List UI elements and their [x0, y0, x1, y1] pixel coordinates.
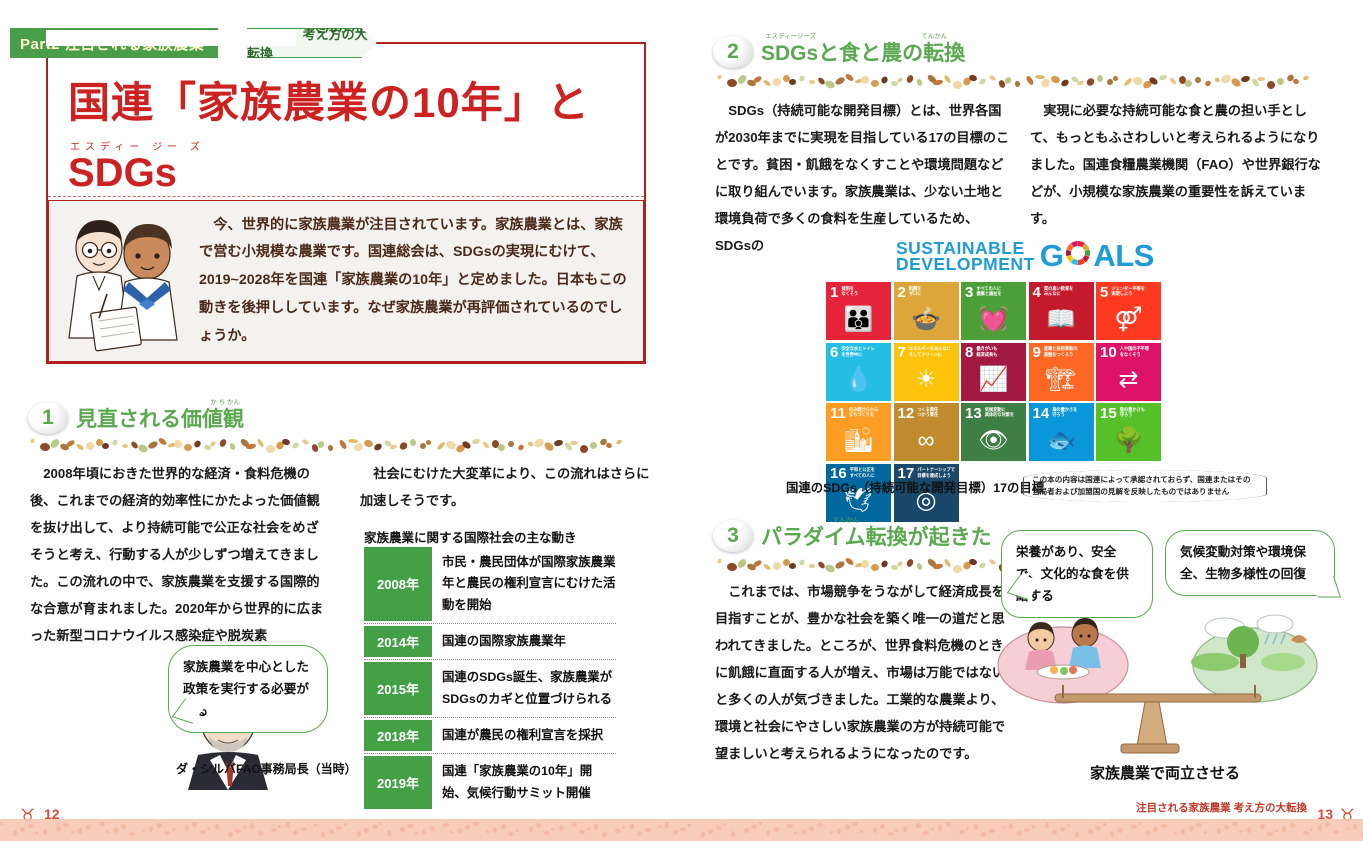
timeline-row: 2015年国連のSDGs誕生、家族農業がSDGsのカギと位置づけられる	[364, 660, 616, 718]
bean-divider-1	[30, 436, 630, 450]
bean-glyph	[988, 559, 996, 566]
bean-glyph	[789, 79, 796, 85]
footer-pattern-dot	[56, 826, 61, 831]
footer-pattern-dot	[20, 827, 25, 832]
bean-glyph	[1158, 74, 1167, 81]
footer-pattern-dot	[508, 832, 514, 836]
sdg-goal-tile: 13気候変動に 具体的な対策を👁	[961, 403, 1026, 461]
bean-glyph	[147, 440, 159, 450]
sdg-goal-number: 11	[830, 407, 846, 421]
bean-glyph	[717, 558, 723, 564]
footer-pattern-dot	[372, 825, 378, 829]
timeline-description: 国連のSDGs誕生、家族農業がSDGsのカギと位置づけられる	[432, 660, 616, 717]
bean-glyph	[533, 437, 546, 449]
footer-pattern-dot	[809, 826, 814, 831]
bean-glyph	[1214, 77, 1220, 83]
bean-glyph	[363, 439, 374, 449]
timeline-row: 2014年国連の国際家族農業年	[364, 624, 616, 660]
bean-glyph	[763, 79, 772, 87]
sdg-goal-icon: 💧	[826, 360, 891, 401]
footer-pattern-dot	[974, 824, 978, 830]
bean-glyph	[1276, 77, 1284, 85]
footer-pattern-dot	[787, 824, 793, 828]
section-3-heading: 3 てんかん パラダイム転換が起きた	[713, 520, 992, 552]
footer-pattern-dot	[536, 823, 541, 828]
sdg-goal-tile: 7エネルギーをみんなに そしてクリーンに☀	[894, 343, 959, 401]
sdg-goal-label: 気候変動に 具体的な対策を	[985, 407, 1014, 418]
bean-glyph	[1292, 78, 1300, 85]
section-1-heading: 1 か ち かん 見直される価値観	[28, 402, 244, 434]
bubble-climate: 気候変動対策や環境保全、生物多様性の回復	[1165, 530, 1335, 596]
footer-pattern-dot	[1275, 829, 1278, 832]
sdg-goal-label: 海の豊かさを 守ろう	[1052, 407, 1077, 418]
footer-pattern-dot	[751, 825, 757, 829]
footer-pattern-dot	[357, 831, 361, 837]
footer-pattern-dot	[501, 824, 506, 829]
timeline-table: 2008年市民・農民団体が国際家族農業年と農民の権利宣言にむけた活動を開始201…	[364, 545, 616, 811]
footer-pattern-dot	[688, 824, 691, 827]
footer-pattern-dot	[1060, 827, 1066, 831]
footer-pattern-dot	[1239, 830, 1242, 833]
footer-pattern-dot	[1204, 831, 1207, 834]
sdg-goal-tile: 9産業と技術革新の 基盤をつくろう🏗	[1029, 343, 1094, 401]
bean-glyph	[193, 439, 202, 448]
footer-pattern-dot	[1103, 823, 1106, 826]
bean-glyph	[916, 562, 924, 570]
bean-glyph	[844, 73, 854, 82]
footer-pattern-dot	[602, 832, 607, 837]
footer-pattern-dot	[28, 824, 34, 828]
bean-glyph	[871, 564, 879, 571]
footer-pattern-dot	[680, 827, 686, 831]
timeline-row: 2008年市民・農民団体が国際家族農業年と農民の権利宣言にむけた活動を開始	[364, 545, 616, 624]
sdg-goal-label: 陸の豊かさも 守ろう	[1120, 407, 1145, 418]
left-page: Part2 注目される家族農業 てんかん 考え方の大転換 国連「家族農業の10年…	[0, 0, 680, 841]
footer-pattern-dot	[78, 828, 82, 834]
footer-pattern-dot	[293, 830, 298, 835]
footer-pattern-dot	[759, 822, 762, 825]
footer-pattern-dot	[731, 831, 735, 837]
footer-pattern-dot	[572, 822, 577, 827]
footer-pattern-dot	[258, 831, 263, 836]
footer-pattern-dot	[1282, 826, 1286, 832]
footer-pattern-dot	[916, 823, 921, 828]
bean-glyph	[933, 79, 944, 86]
footer-pattern-dot	[430, 826, 435, 831]
sdg-goal-icon: ☀	[894, 360, 959, 401]
sdg-logo-als: ALS	[1093, 241, 1154, 271]
footer-pattern-dot	[278, 825, 281, 828]
bean-glyph	[410, 439, 417, 447]
footer-pattern-dot	[516, 829, 519, 832]
bean-glyph	[727, 562, 738, 571]
intro-box: 今、世界的に家族農業が注目されています。家族農業とは、家族で営む小規模な農業です…	[48, 200, 644, 362]
bean-glyph	[859, 558, 870, 569]
sdg-logo: SUSTAINABLE DEVELOPMENT G	[896, 238, 1154, 273]
bean-glyph	[527, 441, 533, 447]
footer-pattern-dot	[895, 829, 898, 832]
bean-glyph	[65, 439, 75, 448]
timeline-year: 2014年	[364, 626, 432, 657]
book-spread: Part2 注目される家族農業 てんかん 考え方の大転換 国連「家族農業の10年…	[0, 0, 1363, 841]
bean-glyph	[517, 444, 525, 452]
footer-pattern-dot	[529, 826, 533, 832]
footer-pattern-dot	[465, 825, 470, 830]
section-2-heading: 2 エスディージーズ てんかん SDGsと食と農の転換	[713, 36, 965, 68]
footer-pattern-dot	[43, 829, 47, 835]
footer-pattern-dot	[321, 832, 325, 838]
bean-glyph	[953, 81, 962, 89]
bean-glyph	[570, 441, 578, 445]
bean-glyph	[978, 77, 987, 85]
footer-pattern-dot	[544, 831, 550, 835]
bean-glyph	[328, 445, 334, 452]
footer-pattern-dot	[1174, 832, 1177, 835]
sdg-goal-label: 安全な水とトイレ を世界中に	[841, 346, 875, 357]
bean-glyph	[772, 561, 782, 571]
title-divider	[48, 196, 644, 197]
footer-pattern-dot	[1189, 826, 1194, 831]
footer-pattern-dot	[114, 827, 118, 833]
students-illustration	[49, 206, 199, 356]
timeline-description: 国連が農民の権利宣言を採択	[432, 718, 603, 753]
footer-pattern-dot	[271, 828, 277, 832]
sdg-logo-g: G	[1040, 241, 1064, 271]
sdg-goal-number: 10	[1100, 346, 1117, 360]
bean-glyph	[301, 439, 309, 446]
footer-pattern-dot	[1232, 822, 1238, 826]
footer-pattern-dot	[1260, 824, 1265, 829]
sdg-goal-number: 13	[965, 407, 982, 421]
footer-pattern-dot	[622, 826, 625, 829]
footer-pattern-dot	[458, 828, 462, 834]
footer-pattern-dot	[716, 826, 722, 830]
footer-pattern-dot	[559, 825, 563, 831]
bean-glyph	[1204, 80, 1212, 88]
intro-paragraph: 今、世界的に家族農業が注目されています。家族農業とは、家族で営む小規模な農業です…	[199, 212, 629, 350]
sdg-grid-caption: 国連のSDGs（持続可能な開発目標）17の目標	[786, 478, 1044, 496]
sdg-goal-tile: 6安全な水とトイレ を世界中に💧	[826, 343, 891, 401]
timeline-row: 2019年国連「家族農業の10年」開始、気候行動サミット開催	[364, 754, 616, 811]
footer-pattern-dot	[192, 822, 197, 827]
bean-glyph	[1240, 75, 1250, 83]
bean-glyph	[736, 557, 748, 569]
footer-pattern-dot	[923, 831, 929, 835]
sdg-goal-label: 飢餓を ゼロに	[909, 286, 922, 297]
sdg-goal-number: 12	[898, 407, 915, 421]
footer-pattern-dot	[1075, 832, 1079, 838]
bean-glyph	[1169, 77, 1177, 86]
bean-glyph	[373, 442, 383, 451]
sdg-goal-tile: 14海の豊かさを 守ろう🐟	[1029, 403, 1094, 461]
bean-glyph	[122, 444, 129, 449]
footer-pattern-dot	[415, 832, 418, 835]
footer-pattern-dot	[228, 832, 233, 837]
footer-pattern-dot	[594, 824, 598, 830]
bean-glyph	[390, 444, 398, 450]
sdg-goal-icon: ⇄	[1096, 360, 1161, 401]
bean-glyph	[507, 440, 514, 447]
footer-pattern-dot	[86, 825, 91, 830]
bean-glyph	[809, 564, 816, 569]
footer-pattern-dot	[473, 822, 479, 826]
footer-pattern-dot	[794, 832, 797, 835]
bean-glyph	[1025, 75, 1035, 86]
footer-pattern-dot	[286, 822, 290, 828]
footer-pattern-dot	[235, 829, 241, 833]
section-3-title: てんかん パラダイム転換が起きた	[761, 521, 992, 551]
sdg-goal-number: 5	[1100, 286, 1108, 300]
section-2-title: エスディージーズ てんかん SDGsと食と農の転換	[761, 37, 965, 67]
footer-pattern-dot	[903, 826, 907, 832]
sdg-goal-tile: 4質の高い教育を みんなに📖	[1029, 282, 1094, 340]
footer-pattern-dot	[744, 828, 749, 833]
footer-pattern-dot	[1161, 824, 1167, 828]
sdg-goal-icon: 💓	[961, 299, 1026, 340]
footer-pattern-dot	[1196, 823, 1202, 827]
bean-glyph	[605, 442, 613, 449]
bean-glyph	[1050, 75, 1061, 85]
bean-glyph	[1257, 77, 1265, 81]
footer-pattern-dot	[329, 829, 334, 834]
footer-pattern-dot	[665, 822, 669, 828]
page-title: 国連「家族農業の10年」と	[68, 80, 590, 126]
intro-text: 今、世界的に家族農業が注目されています。家族農業とは、家族で営む小規模な農業です…	[199, 212, 643, 350]
footer-pattern-dot	[645, 828, 651, 832]
sdg-goal-icon: 🏗	[1029, 360, 1094, 401]
footer-pattern-dot	[658, 825, 661, 828]
timeline-description: 市民・農民団体が国際家族農業年と農民の権利宣言にむけた活動を開始	[432, 545, 616, 623]
footer-pattern-dot	[817, 823, 823, 827]
bean-glyph	[871, 80, 879, 87]
bean-glyph	[772, 77, 782, 87]
footer-pattern-dot	[364, 828, 369, 833]
bean-glyph	[1220, 73, 1233, 85]
footer-pattern-dot	[837, 828, 841, 834]
bean-glyph	[916, 78, 924, 86]
footer-pattern-dot	[379, 822, 382, 825]
sdg-goal-number: 3	[965, 286, 973, 300]
timeline-description: 国連「家族農業の10年」開始、気候行動サミット開催	[432, 754, 616, 811]
footer-pattern-dot	[71, 831, 74, 834]
footer-pattern-dot	[314, 824, 317, 827]
bean-glyph	[727, 78, 738, 87]
bean-glyph	[859, 74, 870, 85]
footer-pattern-dot	[981, 832, 986, 837]
bean-glyph	[482, 441, 490, 450]
bean-glyph	[209, 441, 216, 448]
bean-glyph	[809, 80, 816, 85]
footer-pattern-dot	[1224, 825, 1229, 830]
footer-pattern-dot	[723, 823, 726, 826]
footer-pattern-dot	[301, 827, 307, 831]
bean-glyph	[426, 440, 432, 446]
sdg-goal-label: 質の高い教育を みんなに	[1044, 286, 1073, 297]
footer-pattern-dot	[1045, 822, 1049, 828]
sdg-goal-label: つくる責任 つかう責任	[917, 407, 938, 418]
sdg-goal-number: 8	[965, 346, 973, 360]
footer-pattern-dot	[207, 827, 210, 830]
footer-pattern-dot	[1002, 826, 1005, 829]
bean-glyph	[1194, 76, 1201, 83]
footer-pattern-dot	[1032, 825, 1035, 828]
bean-glyph	[497, 443, 507, 453]
footer-pattern-dot	[493, 827, 497, 833]
section-2-column-2: 実現に必要な持続可能な食と農の担い手として、もっともふさわしいと考えられるように…	[1030, 97, 1328, 232]
footer-pattern-dot	[630, 823, 634, 829]
timeline-row: 2018年国連が農民の権利宣言を採択	[364, 718, 616, 754]
sdg-goal-icon: 📈	[961, 360, 1026, 401]
bean-glyph	[906, 74, 915, 84]
footer-pattern-dot	[860, 830, 863, 833]
bean-glyph	[988, 75, 996, 82]
footer-pattern-dot	[164, 831, 170, 835]
bean-glyph	[1265, 79, 1276, 90]
bean-glyph	[266, 445, 275, 453]
footer-pattern-dot	[1017, 831, 1022, 836]
bean-glyph	[256, 438, 264, 448]
footer-pattern-dot	[1346, 827, 1349, 830]
sdg-goal-icon: 👁	[961, 420, 1026, 461]
bean-glyph	[40, 442, 51, 451]
bean-glyph	[184, 444, 192, 451]
bean-glyph	[834, 560, 846, 570]
frame-notch	[46, 30, 296, 46]
footer-pattern-dot	[959, 830, 965, 834]
footer-pattern-dot	[931, 828, 934, 831]
footer-pattern-dot	[400, 827, 405, 832]
sdg-disclaimer: この本の内容は国連によって承認されておらず、国連またはその当局者および加盟国の見…	[1023, 470, 1267, 502]
sdg-goal-label: エネルギーをみんなに そしてクリーンに	[909, 346, 951, 357]
bean-glyph	[111, 439, 118, 447]
footer-pattern-dot	[579, 830, 585, 834]
footer-pattern-dot	[422, 829, 426, 835]
footer-pattern-dot	[129, 832, 135, 836]
sdg-goal-tile: 5ジェンダー平等を 実現しよう⚤	[1096, 282, 1161, 340]
footer-pattern-dot	[407, 824, 413, 828]
footer-pattern-dot	[1310, 828, 1313, 831]
footer-pattern-dot	[250, 823, 254, 829]
bean-glyph	[76, 443, 85, 451]
sdg-goal-label: 平和と公正を すべての人に	[850, 467, 875, 478]
footer-pattern-dot	[1138, 822, 1141, 825]
section-3-title-ruby: てんかん	[833, 514, 859, 524]
bean-glyph	[338, 439, 348, 450]
bean-divider-2	[717, 72, 1317, 86]
sdg-goal-icon: ∞	[894, 420, 959, 461]
bean-glyph	[102, 443, 109, 449]
footer-pattern-dot	[1110, 831, 1114, 837]
section-1-number: 1	[28, 402, 68, 434]
bean-glyph	[615, 439, 622, 445]
bean-glyph	[798, 75, 805, 83]
footer-pattern-dot	[637, 831, 642, 836]
footer-pattern-dot	[1325, 822, 1330, 827]
bean-glyph	[978, 561, 987, 569]
sdg-goal-label: 住み続けられる まちづくりを	[849, 407, 878, 418]
sdg-goal-number: 6	[830, 346, 838, 360]
bean-glyph	[471, 438, 480, 445]
footer-pattern-dot	[774, 827, 779, 832]
footer-pattern-dot	[106, 830, 109, 833]
sdg-goal-label: 産業と技術革新の 基盤をつくろう	[1044, 346, 1078, 357]
bean-divider-3	[717, 556, 1007, 570]
footer-pattern-dot	[387, 830, 391, 836]
footer-pattern-dot	[1267, 832, 1273, 836]
bean-glyph	[30, 438, 36, 444]
footer-pattern-dot	[142, 829, 145, 832]
footer-pattern-dot	[1118, 828, 1123, 833]
footer-pattern-dot	[1088, 829, 1093, 834]
bean-glyph	[219, 438, 228, 448]
section-2-number: 2	[713, 36, 753, 68]
footer-pattern-dot	[830, 831, 833, 834]
sdg-goal-number: 4	[1033, 286, 1041, 300]
bean-glyph	[943, 74, 951, 84]
bean-glyph	[1123, 77, 1133, 87]
bean-glyph	[736, 73, 748, 85]
footer-pattern-dot	[615, 829, 621, 833]
bean-glyph	[1085, 77, 1096, 88]
footer-pattern-dot	[1353, 824, 1357, 830]
bean-glyph	[789, 563, 796, 569]
footer-pattern-dot	[486, 830, 489, 833]
bean-glyph	[1113, 76, 1119, 82]
sdg-goal-icon: ⚤	[1096, 299, 1161, 340]
footer-pattern-dot	[673, 830, 678, 835]
footer-pattern-dot	[243, 826, 246, 829]
footer-pattern-dot	[1067, 824, 1070, 827]
bean-glyph	[589, 441, 597, 449]
sdg-goal-number: 1	[830, 286, 838, 300]
bean-glyph	[1184, 79, 1194, 89]
sdg-goal-icon: 🌳	[1096, 420, 1161, 461]
sdg-logo-line2: DEVELOPMENT	[896, 256, 1035, 272]
footer-pattern-dot	[121, 824, 126, 829]
footer-pattern-dot	[1318, 825, 1322, 831]
bean-glyph	[844, 557, 854, 566]
footer-pattern-dot	[946, 822, 951, 827]
footer-pattern-dot	[587, 827, 590, 830]
timeline-description: 国連の国際家族農業年	[432, 624, 566, 659]
bean-glyph	[896, 77, 903, 84]
bean-glyph	[1060, 78, 1070, 87]
sdg-goal-number: 14	[1033, 407, 1050, 421]
sdg-goal-tile: 15陸の豊かさも 守ろう🌳	[1096, 403, 1161, 461]
bean-glyph	[172, 438, 183, 449]
bean-glyph	[906, 558, 915, 568]
section-3-body: これまでは、市場競争をうながして経済成長を目指すことが、豊かな社会を築く唯一の道…	[715, 578, 1013, 767]
footer-pattern-dot	[157, 823, 162, 828]
footer-pattern-dot	[149, 826, 153, 832]
footer-pattern-dot	[215, 824, 219, 830]
footer-pattern-dot	[873, 827, 877, 833]
balance-scale-illustration	[993, 590, 1343, 775]
bean-glyph	[763, 563, 772, 571]
footer-pattern-dot	[13, 830, 17, 836]
bean-glyph	[229, 442, 237, 450]
footer-pattern-dot	[0, 822, 3, 825]
bean-glyph	[578, 443, 589, 454]
footer-pattern-dot	[1009, 823, 1013, 829]
bean-glyph	[398, 441, 409, 452]
footer-pattern-dot	[99, 822, 105, 826]
sdg-goal-tile: 8働きがいも 経済成長も📈	[961, 343, 1026, 401]
bean-glyph	[157, 437, 167, 446]
footer-pattern-dot	[35, 832, 38, 835]
bean-glyph	[880, 75, 889, 84]
section-1-title-ruby: か ち かん	[210, 396, 240, 406]
